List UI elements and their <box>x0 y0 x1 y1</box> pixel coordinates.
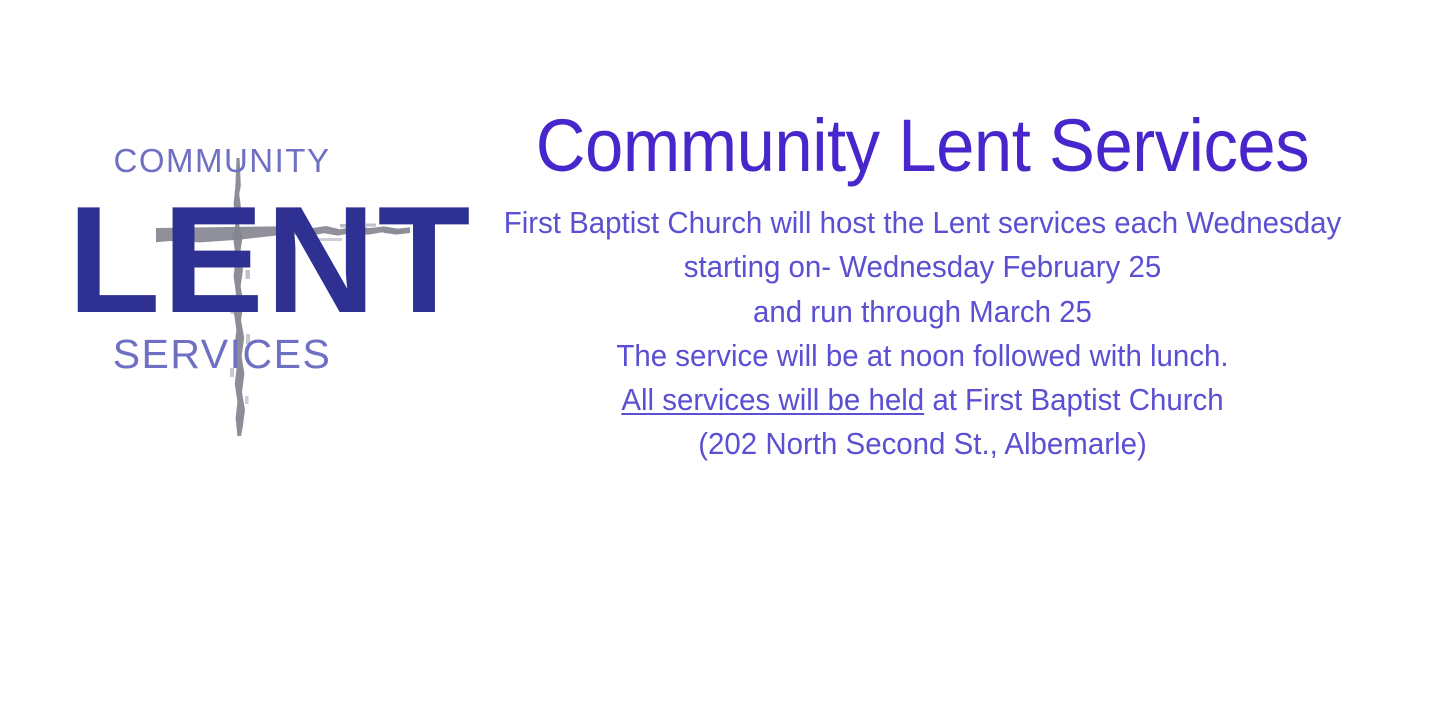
body-line-6: (202 North Second St., Albemarle) <box>478 422 1366 466</box>
body-line-5-underlined: All services will be held <box>621 382 924 417</box>
body-line-4: The service will be at noon followed wit… <box>478 334 1366 378</box>
announcement-body: First Baptist Church will host the Lent … <box>478 201 1366 465</box>
body-line-2: starting on- Wednesday February 25 <box>478 245 1366 289</box>
body-line-1: First Baptist Church will host the Lent … <box>478 201 1366 245</box>
slide-canvas: COMMUNITY LENT SERVICES Community Lent S… <box>0 0 1440 716</box>
body-line-5: All services will be held at First Bapti… <box>478 378 1366 422</box>
page-title: Community Lent Services <box>488 108 1358 183</box>
body-line-5-rest: at First Baptist Church <box>924 382 1224 417</box>
logo-word-lent: LENT <box>68 175 473 345</box>
community-lent-services-logo: COMMUNITY LENT SERVICES <box>40 120 440 450</box>
announcement-content: Community Lent Services First Baptist Ch… <box>455 108 1390 466</box>
body-line-3: and run through March 25 <box>478 290 1366 334</box>
logo-word-services: SERVICES <box>113 331 332 377</box>
logo-word-community: COMMUNITY <box>114 142 331 179</box>
